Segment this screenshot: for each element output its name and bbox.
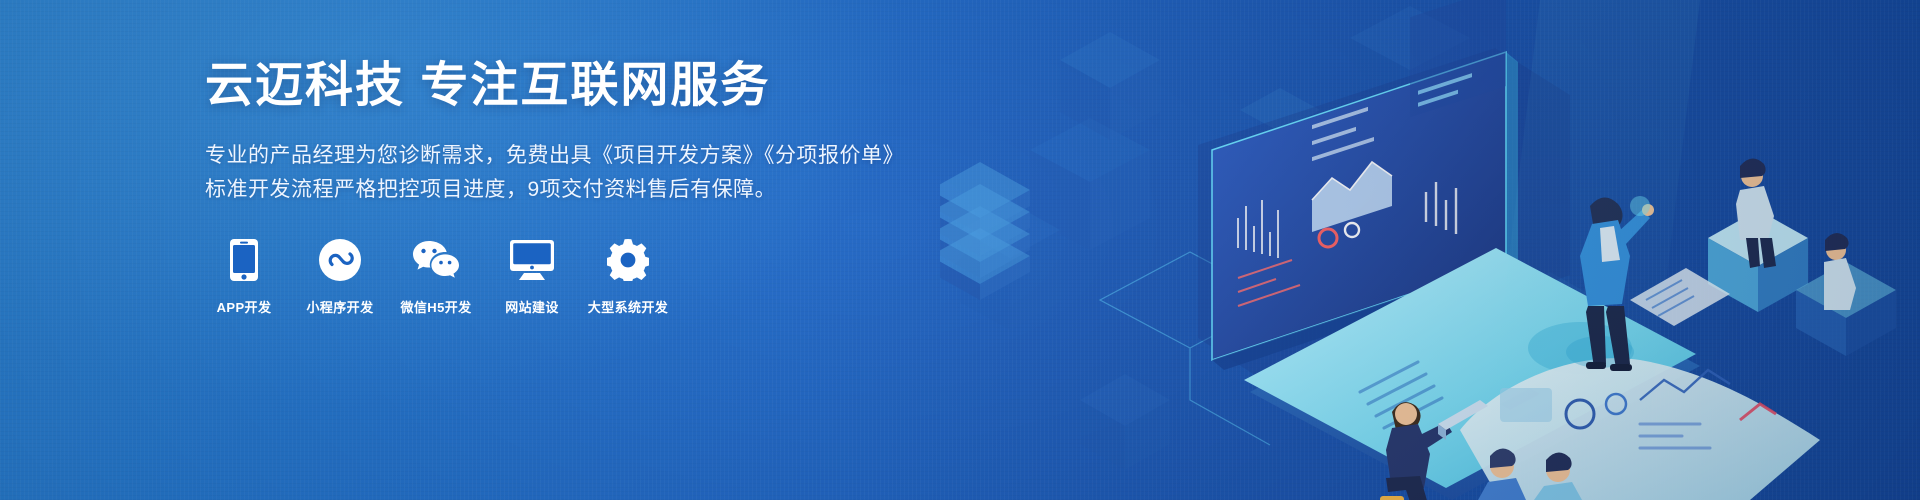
hero-illustration bbox=[940, 0, 1920, 500]
description-line-1: 专业的产品经理为您诊断需求，免费出具《项目开发方案》《分项报价单》 bbox=[205, 139, 925, 173]
service-label: 微信H5开发 bbox=[400, 297, 471, 316]
wechat-icon bbox=[412, 237, 460, 283]
monitor-icon bbox=[510, 237, 554, 283]
service-label: APP开发 bbox=[217, 297, 272, 316]
service-label: 小程序开发 bbox=[306, 297, 373, 316]
service-label: 大型系统开发 bbox=[588, 297, 668, 316]
hero-banner: 云迈科技 专注互联网服务 专业的产品经理为您诊断需求，免费出具《项目开发方案》《… bbox=[0, 0, 1920, 500]
server-stack bbox=[940, 162, 1030, 300]
page-title: 云迈科技 专注互联网服务 bbox=[205, 60, 925, 113]
isometric-tech-dashboard-illustration bbox=[940, 0, 1920, 500]
hero-content: 云迈科技 专注互联网服务 专业的产品经理为您诊断需求，免费出具《项目开发方案》《… bbox=[205, 60, 925, 316]
mobile-phone-icon bbox=[230, 237, 258, 283]
service-item-system[interactable]: 大型系统开发 bbox=[589, 237, 667, 316]
service-label: 网站建设 bbox=[505, 297, 559, 316]
service-item-miniprogram[interactable]: 小程序开发 bbox=[301, 237, 379, 316]
service-list: APP开发 小程序开发 bbox=[205, 237, 925, 316]
description-line-2: 标准开发流程严格把控项目进度，9项交付资料售后有保障。 bbox=[205, 173, 925, 207]
mini-program-icon bbox=[319, 237, 361, 283]
service-item-wechat[interactable]: 微信H5开发 bbox=[397, 237, 475, 316]
gear-icon bbox=[607, 237, 649, 283]
service-item-app[interactable]: APP开发 bbox=[205, 237, 283, 316]
service-item-website[interactable]: 网站建设 bbox=[493, 237, 571, 316]
person-on-cube bbox=[1708, 158, 1896, 356]
hero-description: 专业的产品经理为您诊断需求，免费出具《项目开发方案》《分项报价单》 标准开发流程… bbox=[205, 139, 925, 207]
